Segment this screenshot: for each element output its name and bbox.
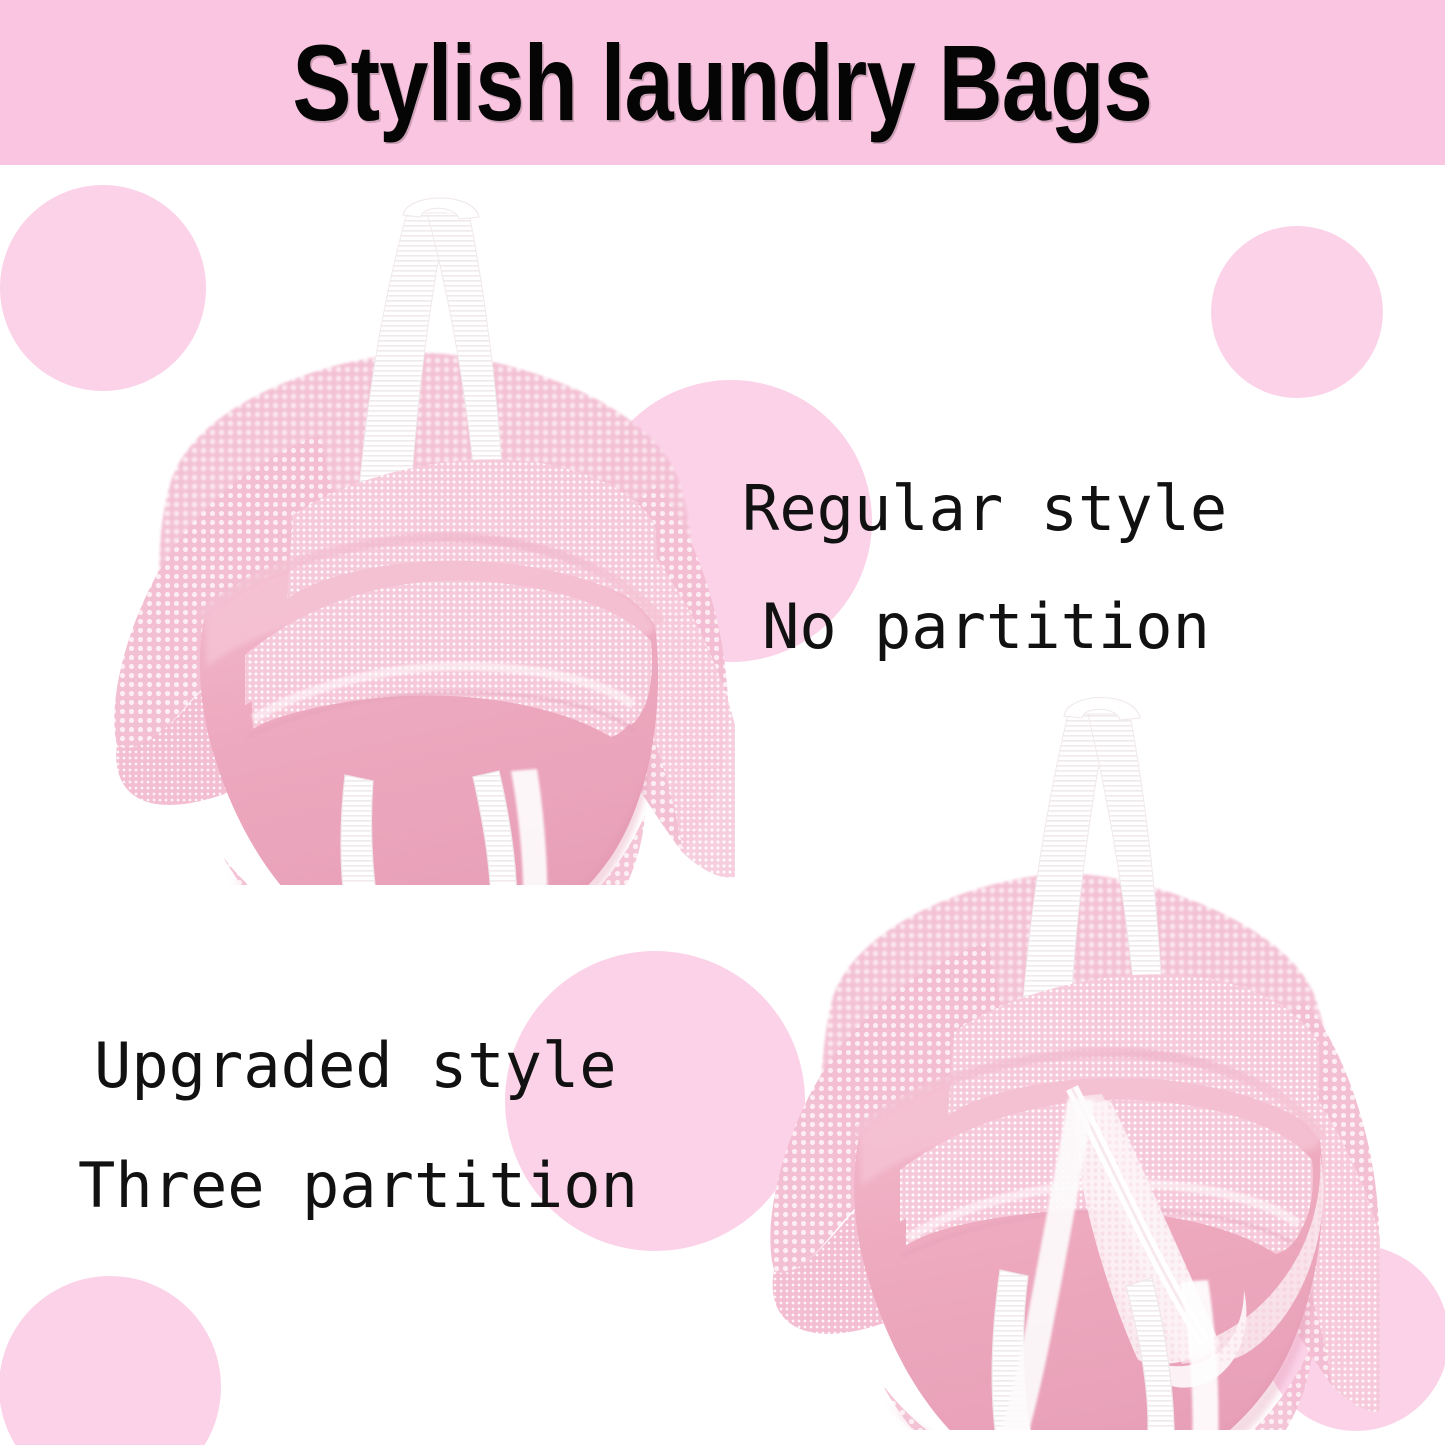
upgraded-caption-line-2: Three partition <box>78 1126 638 1246</box>
upgraded-caption: Upgraded style Three partition <box>78 1006 638 1246</box>
regular-caption-line-2: No partition <box>762 568 1227 686</box>
page-title: Stylish laundry Bags <box>293 29 1153 137</box>
regular-caption: Regular style No partition <box>742 450 1227 686</box>
upgraded-laundry-bag <box>700 670 1380 1430</box>
regular-caption-line-1: Regular style <box>742 450 1227 568</box>
dot-bottom-left <box>0 1276 221 1445</box>
upgraded-caption-line-1: Upgraded style <box>94 1006 638 1126</box>
upgraded-bag-illustration <box>700 670 1380 1430</box>
header-banner: Stylish laundry Bags <box>0 0 1445 165</box>
dot-top-right <box>1211 226 1383 398</box>
regular-bag-illustration <box>55 185 735 885</box>
product-infographic: Stylish laundry Bags <box>0 0 1445 1445</box>
regular-laundry-bag <box>55 185 735 885</box>
